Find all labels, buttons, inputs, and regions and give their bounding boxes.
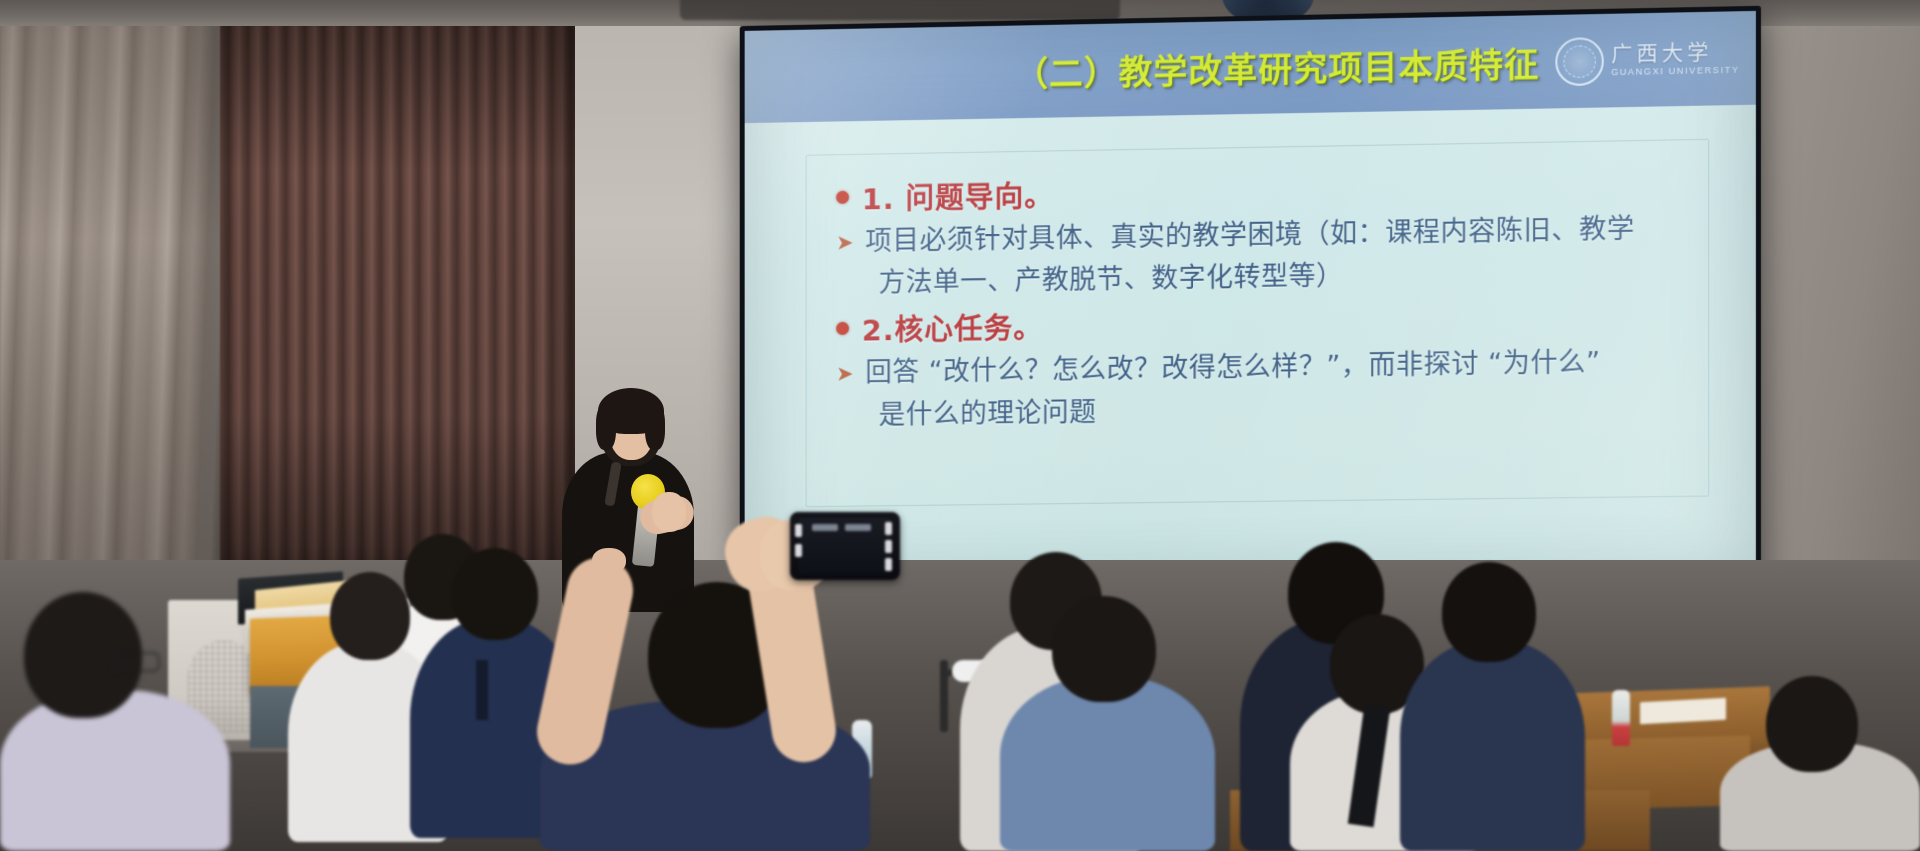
curtain-shading — [0, 0, 220, 600]
wood-wall-shading — [215, 0, 575, 575]
presenter-hair-right — [645, 404, 665, 450]
university-name-cn: 广西大学 — [1611, 41, 1740, 65]
slide-block-body-1-cont: 方法单一、产教脱节、数字化转型等） — [832, 253, 1682, 302]
smartphone-side-button-2[interactable] — [885, 540, 892, 553]
bullet-dot-icon — [836, 322, 849, 335]
slide-block-body-1: ➤ 项目必须针对具体、真实的教学困境（如：课程内容陈旧、教学 — [832, 211, 1682, 261]
slide-heading-1: 1. 问题导向。 — [862, 173, 1054, 218]
audience-a10-head — [1442, 562, 1536, 662]
slide-body-2-line-1: 回答 “改什么？怎么改？改得怎么样？”，而非探讨 “为什么” — [865, 345, 1600, 391]
audience-a2-head — [330, 572, 410, 660]
university-name-en: GUANGXI UNIVERSITY — [1611, 66, 1740, 77]
smartphone-side-button-5[interactable] — [795, 544, 802, 557]
audience-a1-torso — [0, 690, 230, 851]
bullet-dot-icon — [836, 191, 849, 204]
smartphone-side-button-4[interactable] — [795, 524, 802, 537]
slide-title-bar: （二）教学改革研究项目本质特征 广西大学 GUANGXI UNIVERSITY — [745, 11, 1756, 123]
audience-a1-glasses-icon — [110, 652, 160, 672]
slide-block-body-2-cont: 是什么的理论问题 — [832, 387, 1682, 434]
guangxi-university-seal-icon — [1556, 37, 1604, 86]
smartphone-side-button-3[interactable] — [885, 558, 892, 571]
slide-body-2-line-2: 是什么的理论问题 — [879, 395, 1097, 434]
lecture-hall-scene: （二）教学改革研究项目本质特征 广西大学 GUANGXI UNIVERSITY … — [0, 0, 1920, 851]
slide-body: 1. 问题导向。 ➤ 项目必须针对具体、真实的教学困境（如：课程内容陈旧、教学 … — [806, 139, 1710, 507]
arrow-bullet-icon: ➤ — [836, 232, 853, 253]
audience-a11-head — [1766, 676, 1858, 772]
slide-body-1-line-1: 项目必须针对具体、真实的教学困境（如：课程内容陈旧、教学 — [865, 212, 1634, 261]
smartphone-ui-bar-right — [845, 524, 871, 531]
audience-a10-torso — [1400, 640, 1585, 851]
audience-a3-lanyard — [476, 660, 488, 720]
slide-block-heading-1: 1. 问题导向。 — [832, 162, 1682, 218]
presenter-right-hand — [652, 492, 686, 532]
audience-a7-head — [1052, 596, 1156, 702]
audience-a7-torso — [1000, 676, 1215, 851]
smartphone-side-button-1[interactable] — [885, 522, 892, 535]
slide-block-heading-2: 2.核心任务。 — [832, 296, 1682, 351]
smartphone-ui-bar-left — [812, 524, 838, 531]
desk-papers — [1640, 698, 1726, 725]
slide-title: （二）教学改革研究项目本质特征 — [1014, 37, 1539, 96]
slide-body-1-line-2: 方法单一、产教脱节、数字化转型等） — [879, 259, 1344, 302]
ceiling-sign — [680, 0, 1120, 20]
presenter-hair-left — [596, 404, 616, 450]
university-logo-text: 广西大学 GUANGXI UNIVERSITY — [1611, 41, 1740, 77]
university-logo: 广西大学 GUANGXI UNIVERSITY — [1556, 34, 1740, 86]
slide-block-body-2: ➤ 回答 “改什么？怎么改？改得怎么样？”，而非探讨 “为什么” — [832, 344, 1682, 392]
slide-heading-2: 2.核心任务。 — [862, 305, 1043, 349]
arrow-bullet-icon: ➤ — [836, 364, 853, 385]
water-bottle — [1612, 690, 1630, 746]
right-wall — [1740, 0, 1920, 640]
audience-a3-head — [452, 548, 538, 640]
